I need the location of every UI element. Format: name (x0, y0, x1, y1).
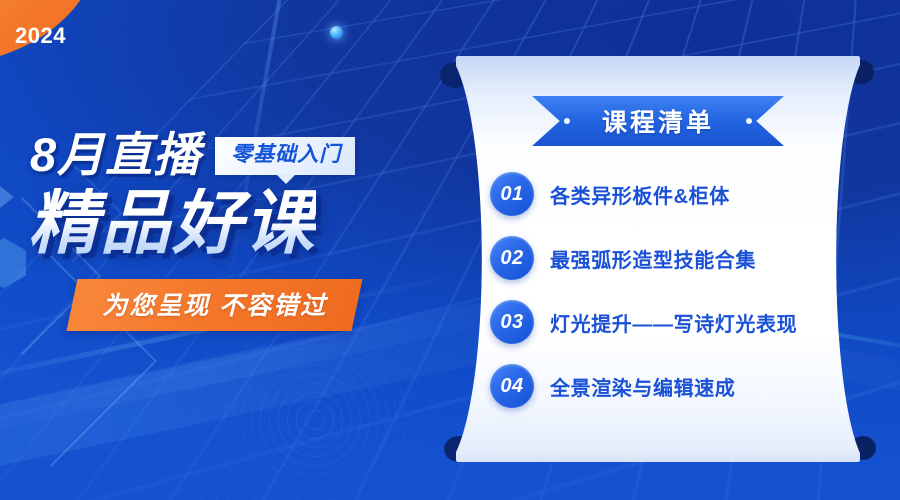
subtitle-ribbon: 为您呈现 不容错过 (66, 279, 362, 331)
course-list-item[interactable]: 01 各类异形板件&柜体 (490, 172, 860, 216)
course-number-badge: 01 (490, 172, 534, 216)
ribbon-dot-left-icon (564, 118, 570, 124)
course-list: 01 各类异形板件&柜体 02 最强弧形造型技能合集 03 灯光提升——写诗灯光… (456, 172, 860, 408)
headline-block: 8月直播 零基础入门 精品好课 为您呈现 不容错过 (0, 0, 460, 500)
subtitle-text: 为您呈现 不容错过 (102, 286, 327, 322)
promo-banner: 2024 8月直播 零基础入门 精品好课 为您呈现 不容错过 课程清单 (0, 0, 900, 500)
course-list-item[interactable]: 03 灯光提升——写诗灯光表现 (490, 300, 860, 344)
course-list-item[interactable]: 02 最强弧形造型技能合集 (490, 236, 860, 280)
year-badge-label: 2024 (15, 23, 66, 49)
course-title: 最强弧形造型技能合集 (550, 244, 756, 273)
course-list-title: 课程清单 (602, 103, 714, 139)
headline-main-title: 精品好课 (28, 188, 316, 258)
beginner-tag: 零基础入门 (215, 137, 355, 175)
course-panel-surface: 课程清单 01 各类异形板件&柜体 02 最强弧形造型技能合集 03 灯光提升— (456, 56, 860, 462)
headline-month-live: 8月直播 (30, 131, 201, 178)
course-list-ribbon: 课程清单 (532, 96, 784, 146)
course-number-badge: 02 (490, 236, 534, 280)
course-title: 灯光提升——写诗灯光表现 (550, 308, 797, 337)
headline-top-row: 8月直播 零基础入门 (30, 131, 355, 178)
course-panel: 课程清单 01 各类异形板件&柜体 02 最强弧形造型技能合集 03 灯光提升— (448, 56, 868, 468)
ribbon-dot-right-icon (746, 118, 752, 124)
course-title: 各类异形板件&柜体 (550, 180, 730, 209)
course-list-item[interactable]: 04 全景渲染与编辑速成 (490, 364, 860, 408)
course-number-badge: 04 (490, 364, 534, 408)
course-number-badge: 03 (490, 300, 534, 344)
course-title: 全景渲染与编辑速成 (550, 372, 735, 401)
